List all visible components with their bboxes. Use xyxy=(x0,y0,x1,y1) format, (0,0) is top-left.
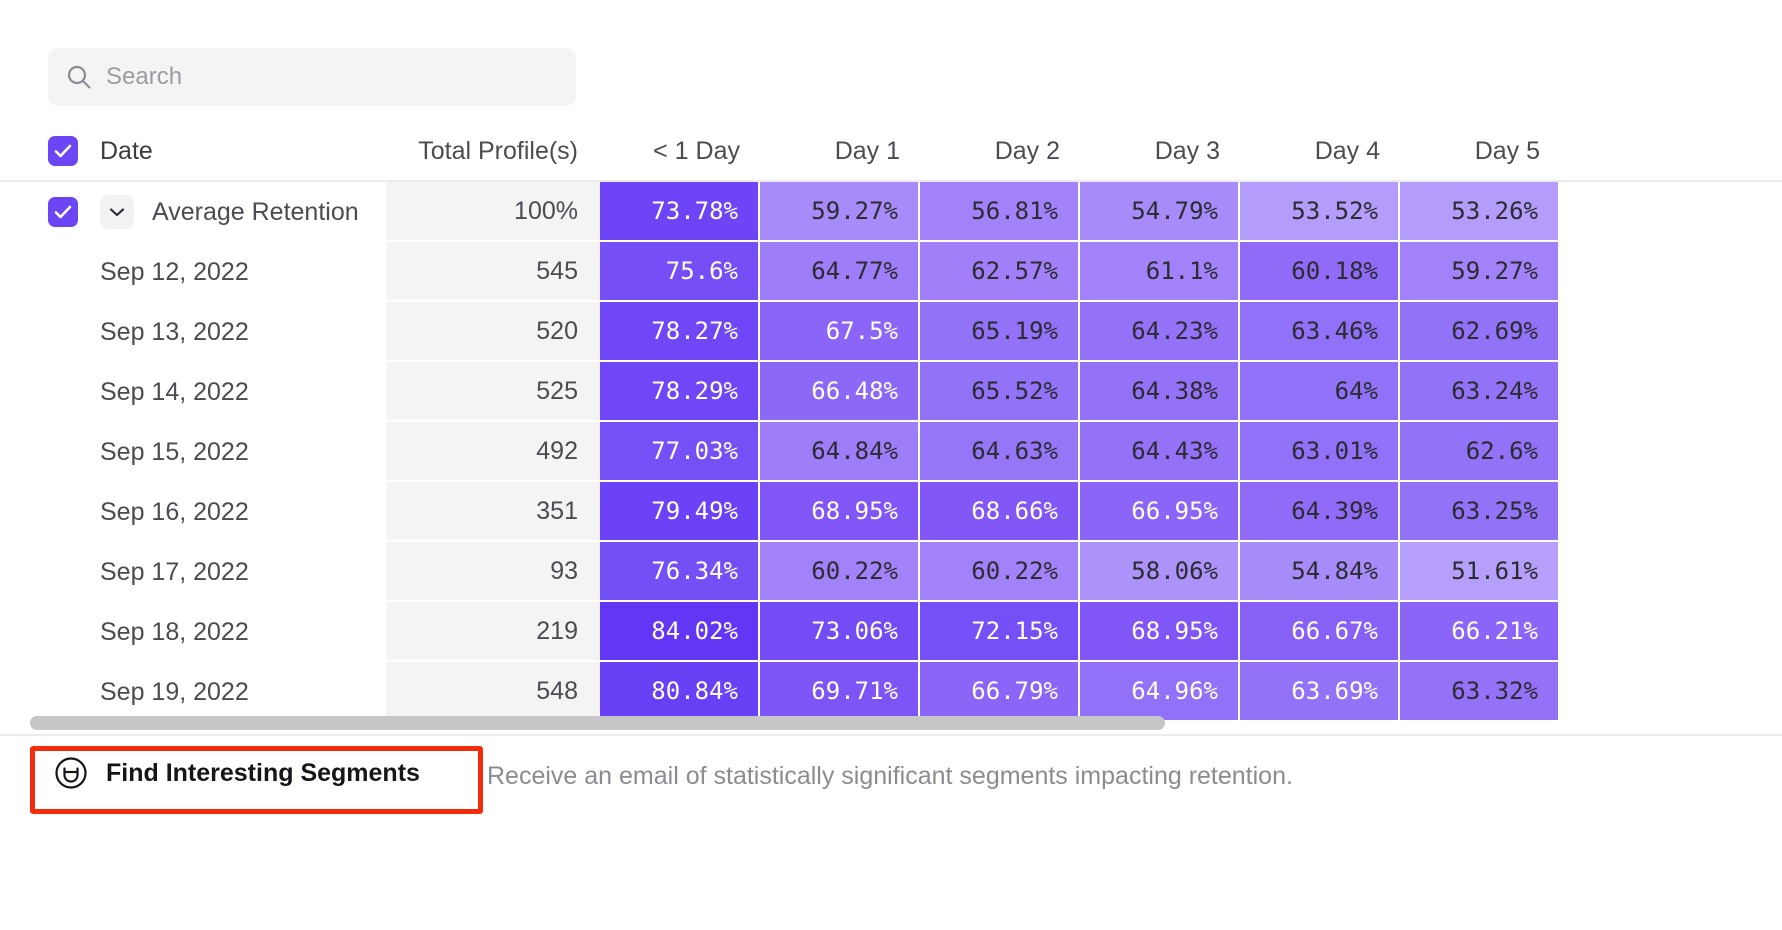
retention-cell: 53.52% xyxy=(1240,182,1400,242)
horizontal-scrollbar[interactable] xyxy=(30,716,1782,730)
retention-cell: 67.5% xyxy=(760,302,920,362)
retention-cell: 77.03% xyxy=(600,422,760,482)
header-cell-total-profiles: Total Profile(s) xyxy=(386,122,600,180)
retention-cell: 58.06% xyxy=(1080,542,1240,602)
retention-cell: 66.48% xyxy=(760,362,920,422)
retention-cell: 66.21% xyxy=(1400,602,1560,662)
retention-cell: 65.52% xyxy=(920,362,1080,422)
header-cell-date: Date xyxy=(0,122,386,180)
row-label-date: Sep 16, 2022 xyxy=(100,498,249,527)
table-row[interactable]: Sep 17, 20229376.34%60.22%60.22%58.06%54… xyxy=(0,542,1782,602)
retention-cell: 62.57% xyxy=(920,242,1080,302)
retention-cell: 78.29% xyxy=(600,362,760,422)
retention-cell: 68.66% xyxy=(920,482,1080,542)
retention-cell: 64.77% xyxy=(760,242,920,302)
chevron-down-icon[interactable] xyxy=(100,195,134,229)
header-cell-day-2: Day 2 xyxy=(920,122,1080,180)
row-cell-date: Sep 12, 2022 xyxy=(0,242,386,302)
retention-cell: 56.81% xyxy=(920,182,1080,242)
retention-cell: 66.79% xyxy=(920,662,1080,722)
header-cell-day-1: Day 1 xyxy=(760,122,920,180)
retention-cell: 65.19% xyxy=(920,302,1080,362)
retention-cell: 66.67% xyxy=(1240,602,1400,662)
retention-cell: 63.46% xyxy=(1240,302,1400,362)
retention-table-panel: Date Total Profile(s) < 1 Day Day 1 Day … xyxy=(0,0,1782,930)
search-bar[interactable] xyxy=(48,48,576,106)
magnet-circle-icon xyxy=(54,756,88,790)
retention-cell: 80.84% xyxy=(600,662,760,722)
row-label-average-retention: Average Retention xyxy=(152,198,359,227)
retention-cell: 64.23% xyxy=(1080,302,1240,362)
retention-cell: 62.6% xyxy=(1400,422,1560,482)
row-cell-date: Sep 16, 2022 xyxy=(0,482,386,542)
retention-cell: 84.02% xyxy=(600,602,760,662)
row-cell-total: 100% xyxy=(386,182,600,242)
row-label-date: Sep 14, 2022 xyxy=(100,378,249,407)
row-cell-total: 545 xyxy=(386,242,600,302)
retention-cell: 61.1% xyxy=(1080,242,1240,302)
table-row[interactable]: Sep 14, 202252578.29%66.48%65.52%64.38%6… xyxy=(0,362,1782,422)
retention-cell: 63.25% xyxy=(1400,482,1560,542)
table-row-average-retention[interactable]: Average Retention 100% 73.78% 59.27% 56.… xyxy=(0,182,1782,242)
retention-cell: 78.27% xyxy=(600,302,760,362)
retention-table: Date Total Profile(s) < 1 Day Day 1 Day … xyxy=(0,122,1782,722)
retention-cell: 54.84% xyxy=(1240,542,1400,602)
retention-cell: 64.38% xyxy=(1080,362,1240,422)
row-label-date: Sep 12, 2022 xyxy=(100,258,249,287)
row-cell-total: 351 xyxy=(386,482,600,542)
retention-cell: 79.49% xyxy=(600,482,760,542)
retention-cell: 64% xyxy=(1240,362,1400,422)
row-cell-date: Sep 15, 2022 xyxy=(0,422,386,482)
table-row[interactable]: Sep 19, 202254880.84%69.71%66.79%64.96%6… xyxy=(0,662,1782,722)
retention-cell: 64.63% xyxy=(920,422,1080,482)
retention-cell: 63.24% xyxy=(1400,362,1560,422)
retention-cell: 68.95% xyxy=(760,482,920,542)
retention-cell: 60.18% xyxy=(1240,242,1400,302)
table-row[interactable]: Sep 18, 202221984.02%73.06%72.15%68.95%6… xyxy=(0,602,1782,662)
retention-cell: 60.22% xyxy=(920,542,1080,602)
search-input[interactable] xyxy=(106,63,558,91)
table-row[interactable]: Sep 13, 202252078.27%67.5%65.19%64.23%63… xyxy=(0,302,1782,362)
header-label-date: Date xyxy=(100,137,153,166)
row-cell-total: 492 xyxy=(386,422,600,482)
retention-cell: 64.96% xyxy=(1080,662,1240,722)
row-label-date: Sep 17, 2022 xyxy=(100,558,249,587)
row-cell-total: 93 xyxy=(386,542,600,602)
row-cell-date: Sep 13, 2022 xyxy=(0,302,386,362)
retention-cell: 64.84% xyxy=(760,422,920,482)
retention-cell: 69.71% xyxy=(760,662,920,722)
row-label-date: Sep 19, 2022 xyxy=(100,678,249,707)
table-row[interactable]: Sep 15, 202249277.03%64.84%64.63%64.43%6… xyxy=(0,422,1782,482)
retention-cell: 63.01% xyxy=(1240,422,1400,482)
table-header-row: Date Total Profile(s) < 1 Day Day 1 Day … xyxy=(0,122,1782,182)
retention-cell: 54.79% xyxy=(1080,182,1240,242)
search-icon xyxy=(66,64,92,90)
row-label-date: Sep 13, 2022 xyxy=(100,318,249,347)
header-cell-lt-1-day: < 1 Day xyxy=(600,122,760,180)
retention-cell: 64.39% xyxy=(1240,482,1400,542)
retention-cell: 53.26% xyxy=(1400,182,1560,242)
retention-cell: 63.32% xyxy=(1400,662,1560,722)
retention-cell: 63.69% xyxy=(1240,662,1400,722)
select-all-checkbox[interactable] xyxy=(48,136,78,166)
retention-cell: 72.15% xyxy=(920,602,1080,662)
row-cell-date: Sep 14, 2022 xyxy=(0,362,386,422)
row-cell-date: Sep 19, 2022 xyxy=(0,662,386,722)
row-cell-total: 520 xyxy=(386,302,600,362)
row-cell-label: Average Retention xyxy=(0,182,386,242)
row-checkbox-average-retention[interactable] xyxy=(48,197,78,227)
header-cell-day-4: Day 4 xyxy=(1240,122,1400,180)
row-label-date: Sep 18, 2022 xyxy=(100,618,249,647)
find-interesting-segments-label: Find Interesting Segments xyxy=(106,759,420,788)
row-cell-date: Sep 17, 2022 xyxy=(0,542,386,602)
table-row[interactable]: Sep 12, 202254575.6%64.77%62.57%61.1%60.… xyxy=(0,242,1782,302)
retention-cell: 62.69% xyxy=(1400,302,1560,362)
retention-cell: 66.95% xyxy=(1080,482,1240,542)
footer-description: Receive an email of statistically signif… xyxy=(487,762,1293,791)
row-cell-total: 219 xyxy=(386,602,600,662)
retention-cell: 73.06% xyxy=(760,602,920,662)
row-label-date: Sep 15, 2022 xyxy=(100,438,249,467)
header-cell-day-5: Day 5 xyxy=(1400,122,1560,180)
retention-cell: 60.22% xyxy=(760,542,920,602)
retention-cell: 75.6% xyxy=(600,242,760,302)
retention-cell: 68.95% xyxy=(1080,602,1240,662)
retention-cell: 64.43% xyxy=(1080,422,1240,482)
scrollbar-thumb[interactable] xyxy=(30,716,1165,730)
retention-cell: 73.78% xyxy=(600,182,760,242)
row-cell-total: 548 xyxy=(386,662,600,722)
retention-cell: 59.27% xyxy=(1400,242,1560,302)
row-cell-total: 525 xyxy=(386,362,600,422)
retention-cell: 59.27% xyxy=(760,182,920,242)
find-interesting-segments-button[interactable]: Find Interesting Segments xyxy=(54,756,420,790)
retention-cell: 51.61% xyxy=(1400,542,1560,602)
row-cell-date: Sep 18, 2022 xyxy=(0,602,386,662)
header-cell-day-3: Day 3 xyxy=(1080,122,1240,180)
retention-cell: 76.34% xyxy=(600,542,760,602)
table-row[interactable]: Sep 16, 202235179.49%68.95%68.66%66.95%6… xyxy=(0,482,1782,542)
table-body: Sep 12, 202254575.6%64.77%62.57%61.1%60.… xyxy=(0,242,1782,722)
